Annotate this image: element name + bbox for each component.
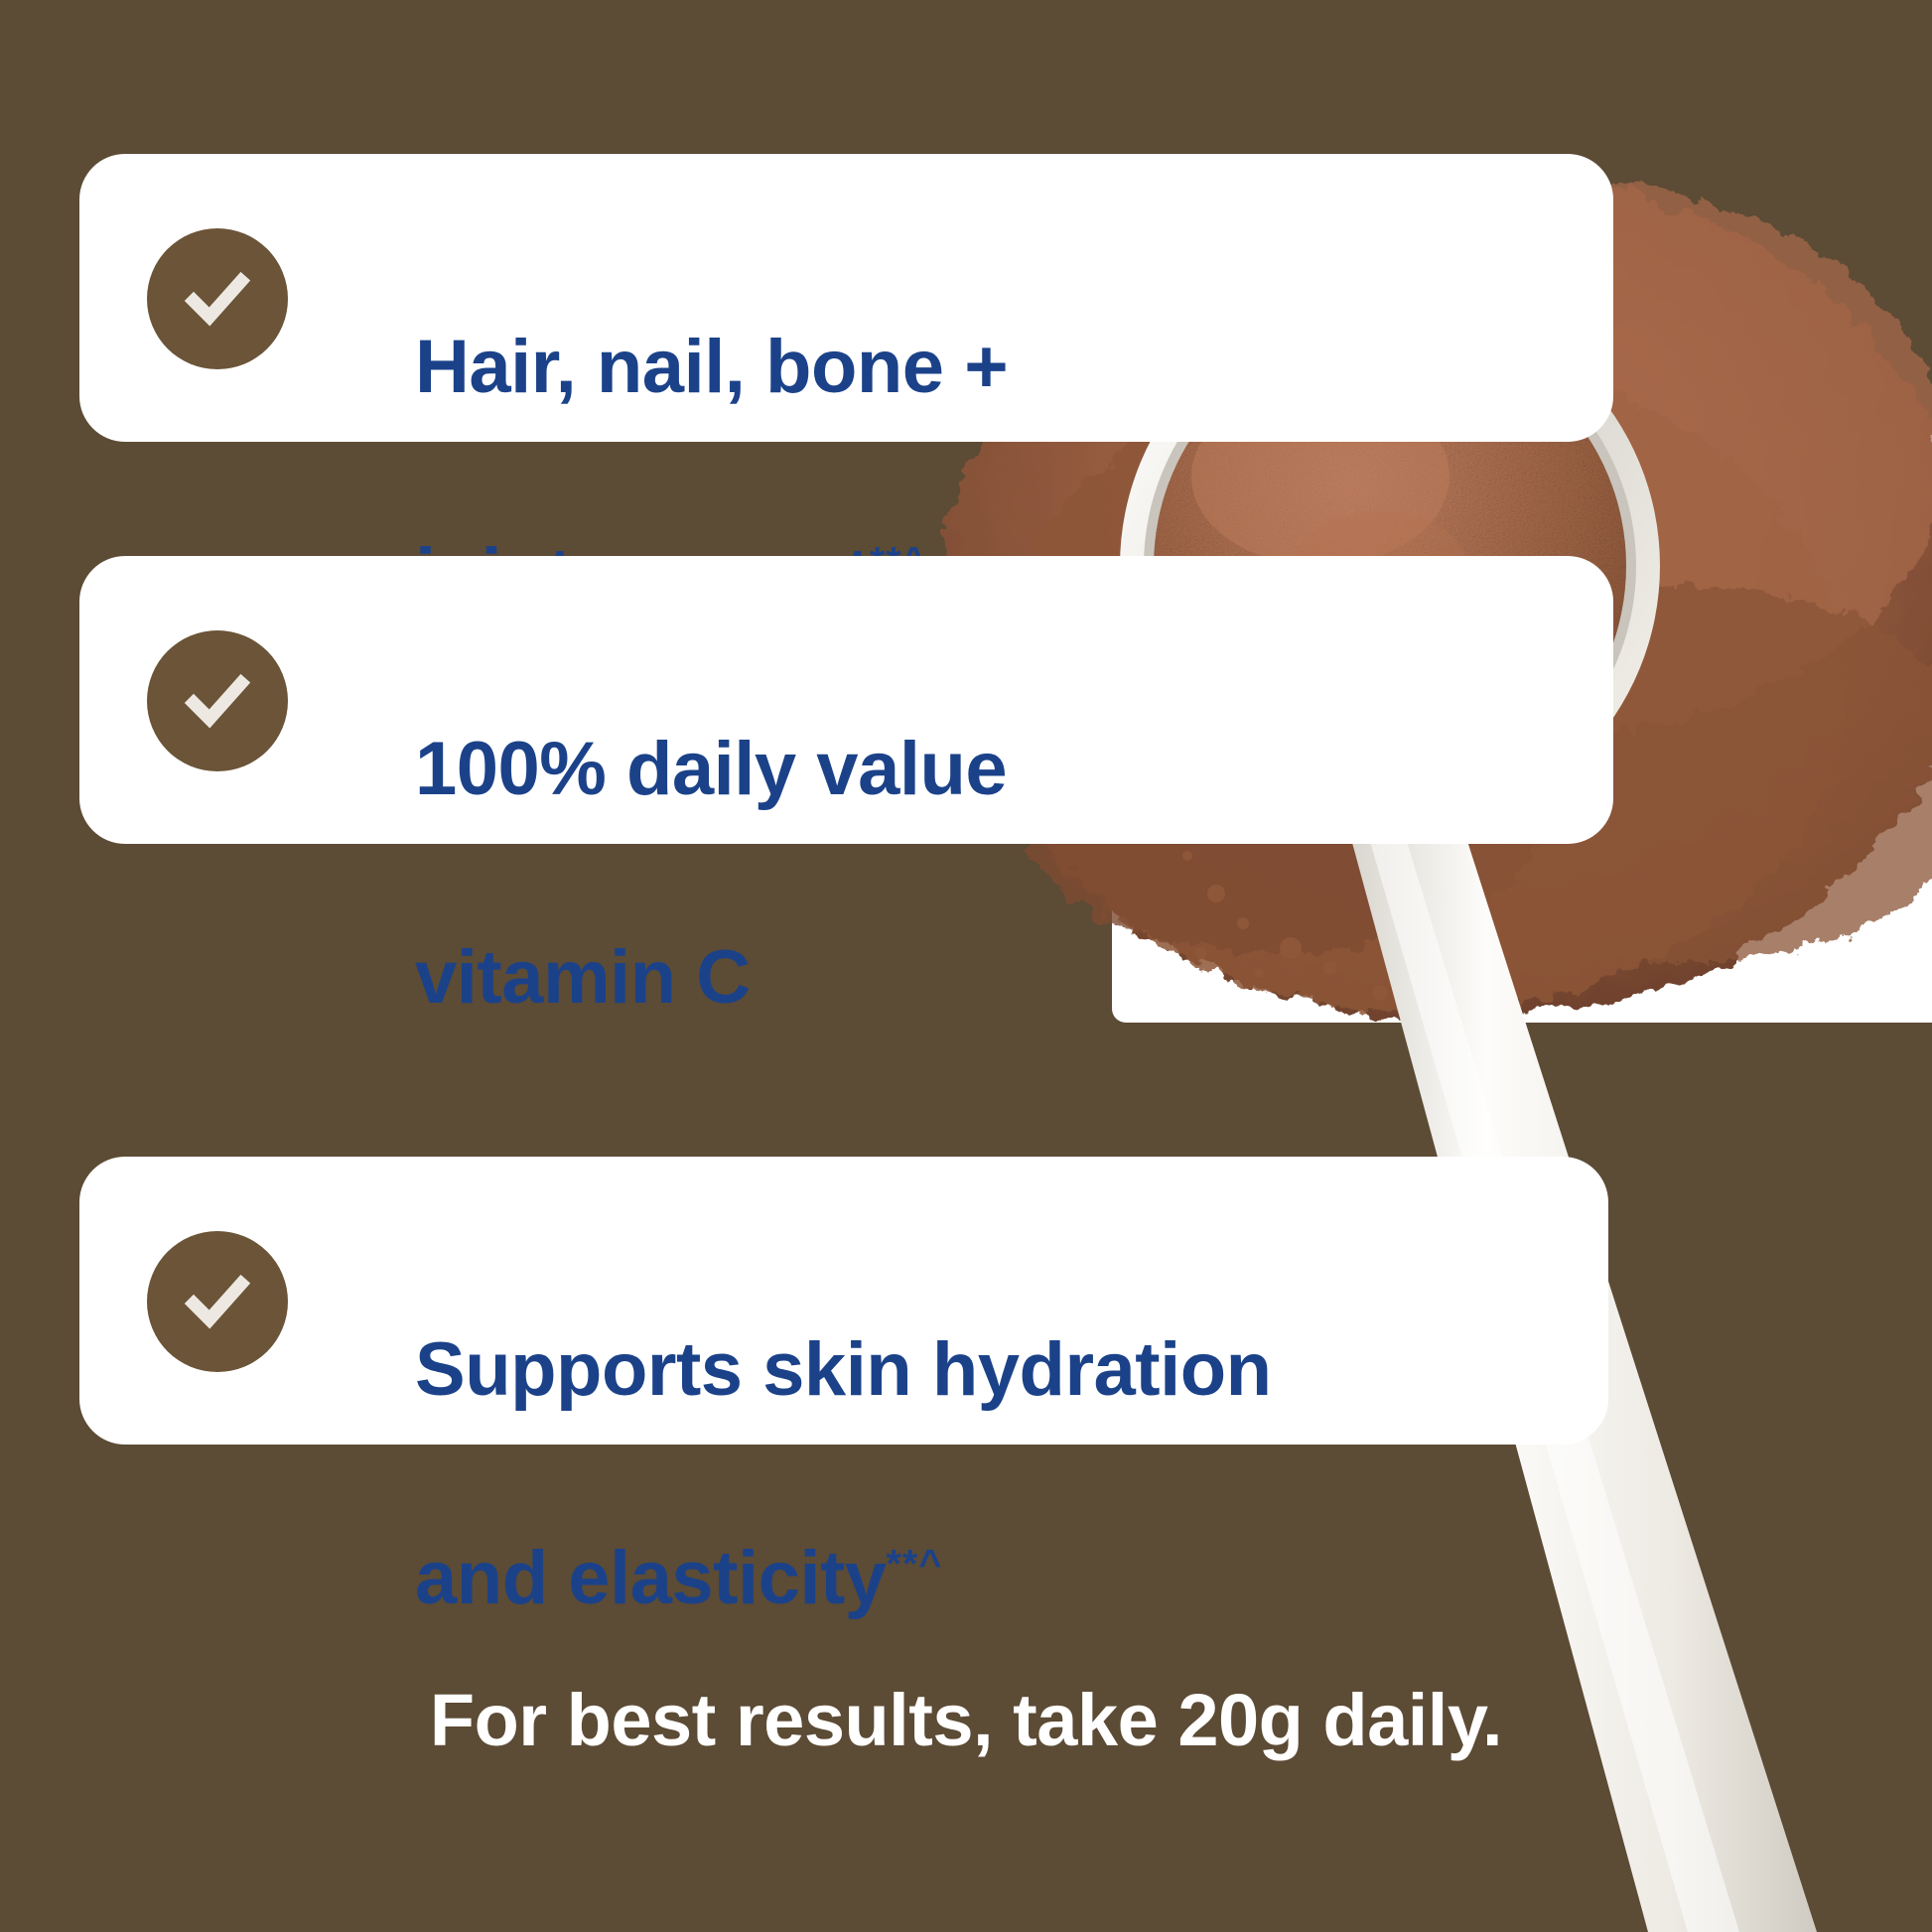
dosage-note: For best results, take 20g daily. xyxy=(0,1678,1932,1762)
benefit-1-line-1: Hair, nail, bone + xyxy=(415,316,1008,420)
benefit-2-line-2: vitamin C xyxy=(415,926,1007,1031)
benefit-2-line-1: 100% daily value xyxy=(415,718,1007,822)
check-icon xyxy=(147,1231,288,1372)
benefit-card-3: Supports skin hydration and elasticity**… xyxy=(79,1157,1608,1445)
check-icon xyxy=(147,630,288,771)
benefit-3-line-2: and elasticity**^ xyxy=(415,1527,1272,1631)
benefit-3-line-1: Supports skin hydration xyxy=(415,1318,1272,1423)
check-icon xyxy=(147,228,288,369)
benefit-2-line-2-text: vitamin C xyxy=(415,935,751,1020)
benefit-3-line-2-text: and elasticity xyxy=(415,1536,887,1620)
benefit-card-2-text: 100% daily value vitamin C xyxy=(415,614,1007,1134)
product-benefits-graphic: Hair, nail, bone + joint support**^ 100%… xyxy=(0,0,1932,1932)
benefit-3-superscript: **^ xyxy=(887,1542,943,1586)
benefit-card-2: 100% daily value vitamin C xyxy=(79,556,1613,844)
benefit-card-3-text: Supports skin hydration and elasticity**… xyxy=(415,1214,1272,1734)
benefit-card-1: Hair, nail, bone + joint support**^ xyxy=(79,154,1613,442)
